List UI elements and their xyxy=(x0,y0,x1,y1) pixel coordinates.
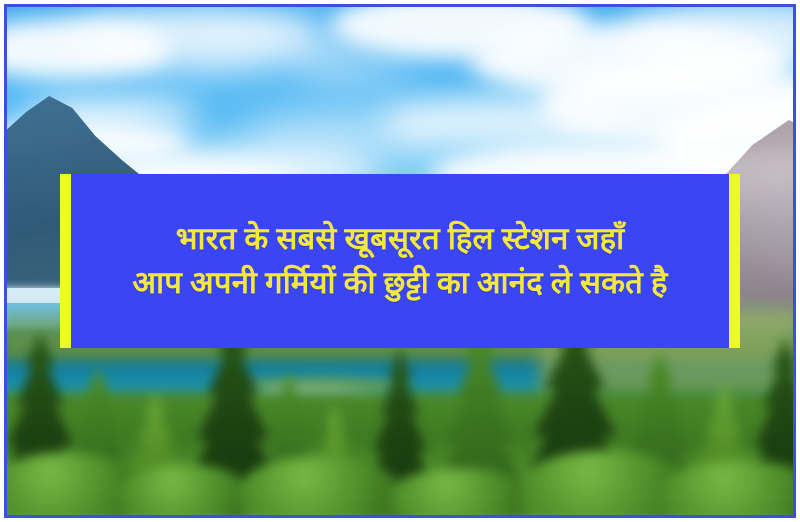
cloud-shape xyxy=(300,55,420,83)
shrub xyxy=(660,460,800,522)
shrub xyxy=(120,464,250,522)
headline-line-2: आप अपनी गर्मियों की छुट्टी का आनंद ले सक… xyxy=(78,261,722,305)
poster-canvas: भारत के सबसे खूबसूरत हिल स्टेशन जहाँ आप … xyxy=(0,0,800,522)
headline-text: भारत के सबसे खूबसूरत हिल स्टेशन जहाँ आप … xyxy=(60,217,740,305)
shrub xyxy=(240,456,400,522)
cloud-shape xyxy=(120,40,250,74)
headline-banner: भारत के सबसे खूबसूरत हिल स्टेशन जहाँ आप … xyxy=(60,174,740,348)
headline-line-1: भारत के सबसे खूबसूरत हिल स्टेशन जहाँ xyxy=(78,217,722,261)
shrub xyxy=(390,468,530,522)
shrub xyxy=(0,452,140,522)
